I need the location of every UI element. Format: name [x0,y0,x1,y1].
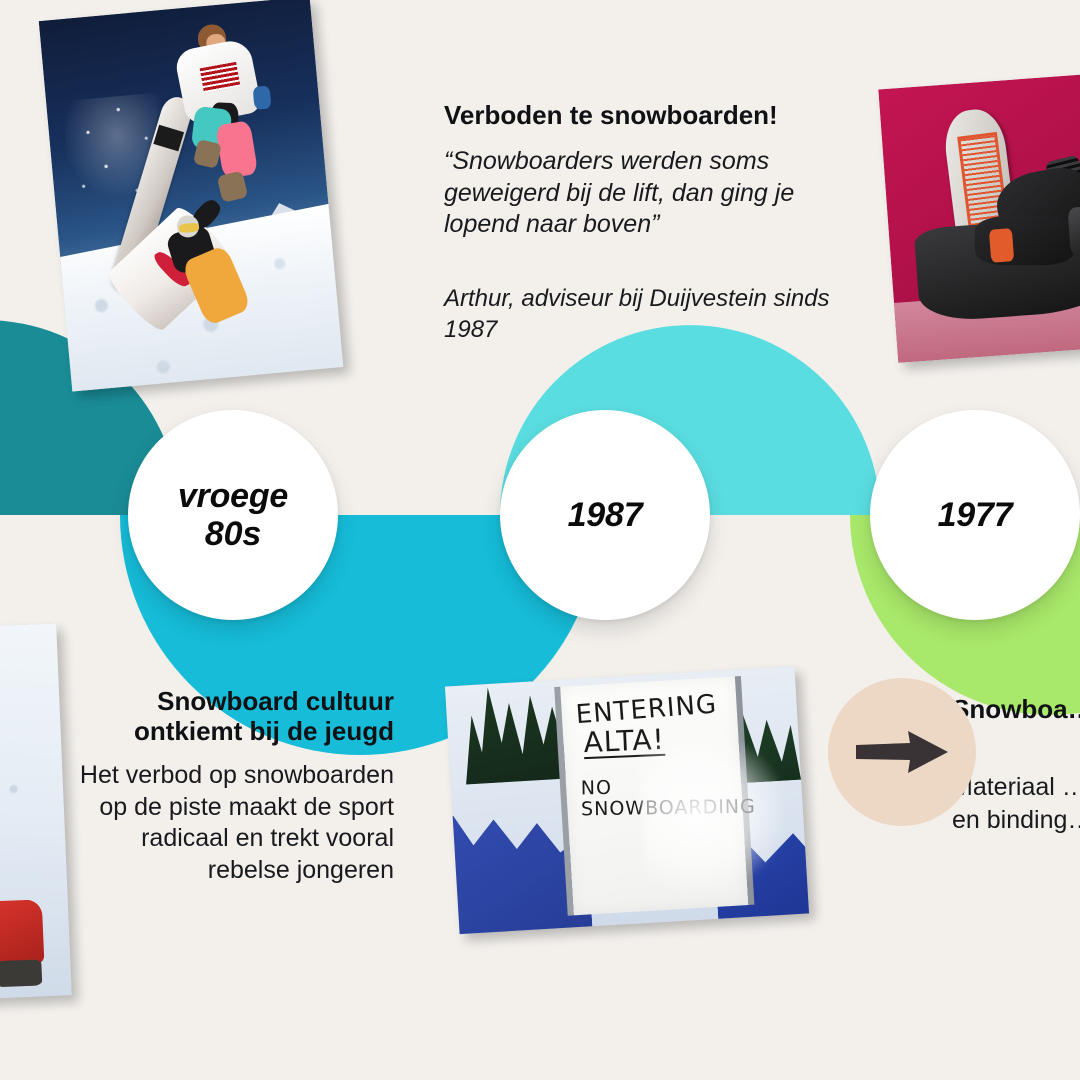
verboden-title: Verboden te snowboarden! [444,100,854,130]
cultuur-paragraph: Het verbod op snowboarden op de piste ma… [60,760,394,886]
timeline-node-1977[interactable]: 1977 [870,410,1080,620]
block-cultuur: Snowboard cultuur ontkiemt bij de jeugd … [60,686,394,886]
infographic-canvas: ENTERING ALTA! NO SNOWBOARDING vroege 80… [0,0,1080,1080]
timeline-node-label-line1: vroege [178,477,288,515]
photo-binding [878,71,1080,363]
timeline-node-label-1987: 1987 [568,496,643,534]
timeline-node-1987[interactable]: 1987 [500,410,710,620]
verboden-attribution: Arthur, adviseur bij Duijvestein sinds 1… [444,283,854,345]
materiaal-title: Snowboa… wordt m… [952,694,1080,725]
timeline-node-vroege-80s[interactable]: vroege 80s [128,410,338,620]
arrow-right-icon [854,728,950,776]
block-verboden: Verboden te snowboarden! “Snowboarders w… [444,100,854,345]
timeline-node-label-1977: 1977 [938,496,1013,534]
arrow-badge [828,678,976,826]
edge-fragment-mid-left: s [0,248,14,280]
materiaal-paragraph: Materiaal … boards sch… en binding… ontw… [952,771,1080,836]
photo-alta-sign: ENTERING ALTA! NO SNOWBOARDING [445,666,809,934]
timeline-node-label-line2: 80s [205,515,261,553]
photo-snowboarders [39,0,344,392]
edge-fragment-top-left: e [0,52,20,82]
cultuur-title: Snowboard cultuur ontkiemt bij de jeugd [60,686,394,746]
verboden-quote: “Snowboarders werden soms geweigerd bij … [444,146,854,241]
